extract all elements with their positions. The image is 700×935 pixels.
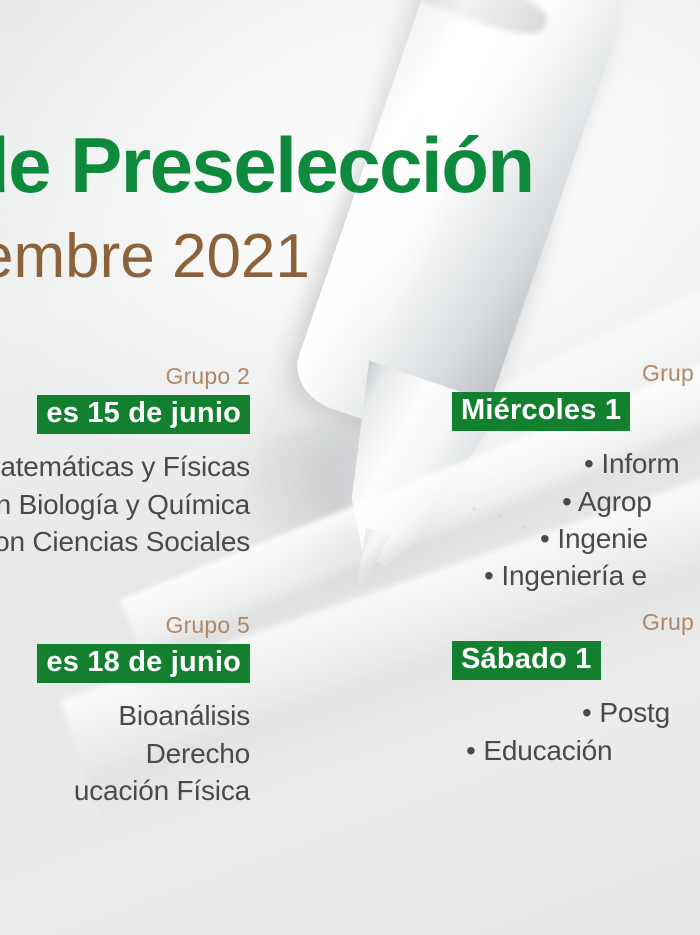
schedule-block-grupo-5: Grupo 5 es 18 de junio Bioanálisis Derec… xyxy=(0,613,250,809)
list-item: • Ingeniería e xyxy=(452,557,700,594)
poster-content: de Preselección tiembre 2021 Grupo 2 es … xyxy=(0,0,700,935)
career-name: Postg xyxy=(599,697,670,728)
career-list: • Postg • Educación xyxy=(452,694,700,768)
list-item: Bioanálisis xyxy=(0,697,250,734)
career-name: Matemáticas y Físicas xyxy=(0,451,250,482)
page-subtitle: tiembre 2021 xyxy=(0,226,700,288)
date-badge: Miércoles 1 xyxy=(452,392,630,431)
page-title: de Preselección xyxy=(0,126,700,204)
list-item: Matemáticas y Físicas xyxy=(0,448,250,485)
career-list: Matemáticas y Físicas n Biología y Quími… xyxy=(0,448,250,560)
list-item: • Inform xyxy=(452,445,700,482)
career-name: n Biología y Química xyxy=(0,489,250,520)
list-item: • Postg xyxy=(452,694,700,731)
career-name: Inform xyxy=(601,448,679,479)
list-item: Derecho xyxy=(0,735,250,772)
career-name: Ingenie xyxy=(557,523,647,554)
career-name: ucación Física xyxy=(74,775,250,806)
date-badge: es 18 de junio xyxy=(37,644,250,683)
group-label: Grup xyxy=(452,361,700,386)
list-item: • Educación xyxy=(452,732,700,769)
bullet-icon: • xyxy=(540,523,550,554)
list-item: on Ciencias Sociales xyxy=(0,523,250,560)
schedule-block-grupo-2: Grupo 2 es 15 de junio Matemáticas y Fís… xyxy=(0,364,250,560)
group-label: Grupo 5 xyxy=(0,613,250,638)
date-badge: Sábado 1 xyxy=(452,641,601,680)
list-item: • Agrop xyxy=(452,483,700,520)
bullet-icon: • xyxy=(584,448,594,479)
career-name: on Ciencias Sociales xyxy=(0,526,250,557)
date-badge: es 15 de junio xyxy=(37,395,250,434)
career-list: Bioanálisis Derecho ucación Física xyxy=(0,697,250,809)
career-name: Educación xyxy=(483,735,612,766)
career-name: Bioanálisis xyxy=(118,700,250,731)
bullet-icon: • xyxy=(484,560,494,591)
career-list: • Inform • Agrop • Ingenie • Ingeniería … xyxy=(452,445,700,594)
bullet-icon: • xyxy=(582,697,592,728)
group-label: Grupo 2 xyxy=(0,364,250,389)
poster-canvas: de Preselección tiembre 2021 Grupo 2 es … xyxy=(0,0,700,935)
group-label: Grup xyxy=(452,610,700,635)
bullet-icon: • xyxy=(466,735,476,766)
list-item: ucación Física xyxy=(0,772,250,809)
list-item: • Ingenie xyxy=(452,520,700,557)
career-name: Derecho xyxy=(146,738,250,769)
list-item: n Biología y Química xyxy=(0,486,250,523)
schedule-block-grupo-3: Grup Miércoles 1 • Inform • Agrop • Inge… xyxy=(452,361,700,594)
bullet-icon: • xyxy=(562,486,572,517)
schedule-block-grupo-6: Grup Sábado 1 • Postg • Educación xyxy=(452,610,700,769)
career-name: Agrop xyxy=(578,486,652,517)
career-name: Ingeniería e xyxy=(501,560,647,591)
